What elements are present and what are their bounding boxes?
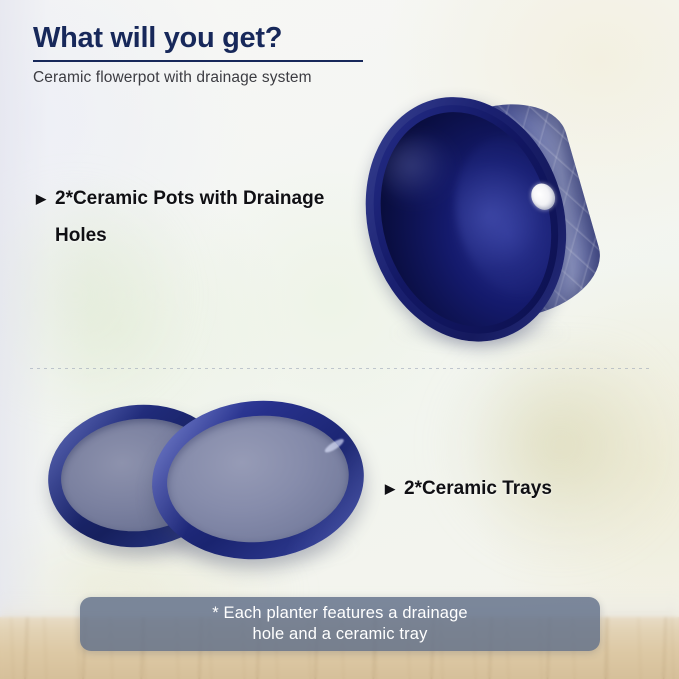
footnote-line-2: hole and a ceramic tray <box>212 624 468 645</box>
feature-label-pots: 2*Ceramic Pots with Drainage Holes <box>55 180 336 254</box>
header: What will you get? Ceramic flowerpot wit… <box>33 20 453 87</box>
footnote-text: * Each planter features a drainage hole … <box>212 603 468 645</box>
bullet-triangle-icon: ▶ <box>385 470 395 507</box>
section-divider <box>30 368 650 369</box>
feature-label-trays: 2*Ceramic Trays <box>404 470 552 507</box>
title-divider <box>33 60 363 62</box>
feature-item-trays: ▶ 2*Ceramic Trays <box>385 470 552 507</box>
background-bokeh-right <box>440 350 679 560</box>
pot-graphic <box>318 50 652 384</box>
background-vignette <box>0 0 90 679</box>
product-infographic: What will you get? Ceramic flowerpot wit… <box>0 0 679 679</box>
footnote-banner: * Each planter features a drainage hole … <box>80 597 600 651</box>
bullet-triangle-icon: ▶ <box>36 180 46 217</box>
feature-item-pots: ▶ 2*Ceramic Pots with Drainage Holes <box>36 180 336 254</box>
footnote-line-1: * Each planter features a drainage <box>212 603 468 624</box>
ceramic-trays-image <box>40 395 370 570</box>
page-title: What will you get? <box>33 20 453 56</box>
ceramic-pot-image <box>350 82 620 352</box>
